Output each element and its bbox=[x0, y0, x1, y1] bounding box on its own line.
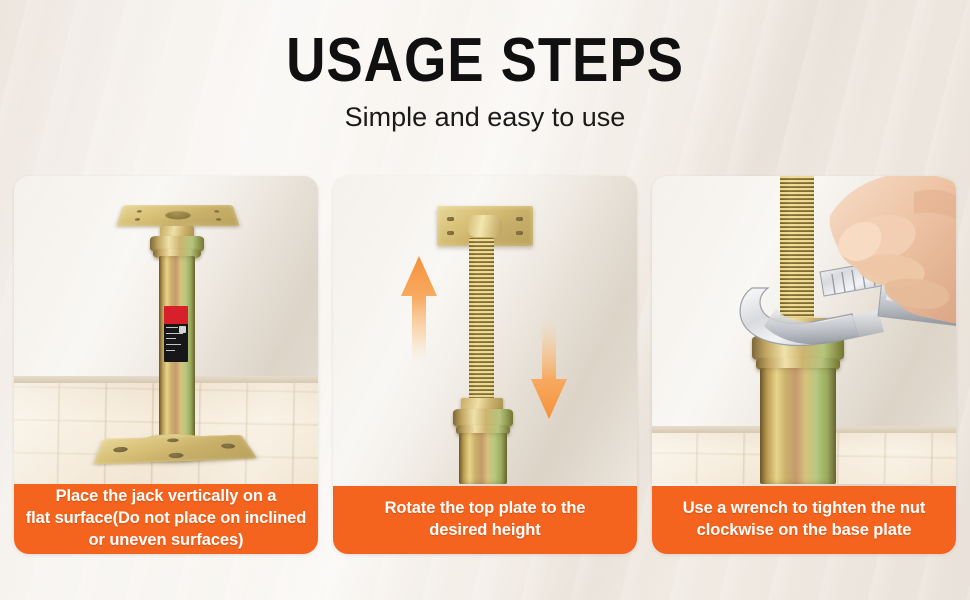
caption-line: clockwise on the base plate bbox=[683, 519, 926, 541]
page-title: USAGE STEPS bbox=[58, 30, 912, 92]
step-3-caption: Use a wrench to tighten the nut clockwis… bbox=[652, 486, 956, 554]
threaded-rod bbox=[469, 238, 494, 403]
step-1-caption: Place the jack vertically on a flat surf… bbox=[14, 484, 318, 554]
warning-label bbox=[164, 306, 188, 362]
step-card-2[interactable]: Rotate the top plate to the desired heig… bbox=[333, 176, 637, 554]
poster-canvas: USAGE STEPS Simple and easy to use bbox=[0, 0, 970, 600]
caption-line: flat surface(Do not place on inclined bbox=[26, 507, 307, 529]
top-mounting-plate bbox=[116, 205, 240, 226]
caption-line: Place the jack vertically on a bbox=[26, 485, 307, 507]
page-subtitle: Simple and easy to use bbox=[0, 102, 970, 132]
jack-tube bbox=[459, 433, 507, 484]
caption-line: Use a wrench to tighten the nut bbox=[683, 497, 926, 519]
steps-row: Place the jack vertically on a flat surf… bbox=[14, 176, 956, 554]
poster-header: USAGE STEPS Simple and easy to use bbox=[0, 30, 970, 132]
caption-line: Rotate the top plate to the bbox=[385, 497, 586, 519]
caption-line: desired height bbox=[385, 519, 586, 541]
step-2-caption: Rotate the top plate to the desired heig… bbox=[333, 486, 637, 554]
caption-line: or uneven surfaces) bbox=[26, 529, 307, 551]
step-card-1[interactable]: Place the jack vertically on a flat surf… bbox=[14, 176, 318, 554]
step-card-3[interactable]: Use a wrench to tighten the nut clockwis… bbox=[652, 176, 956, 554]
arrow-down-icon bbox=[529, 316, 569, 421]
arrow-up-icon bbox=[399, 254, 439, 364]
